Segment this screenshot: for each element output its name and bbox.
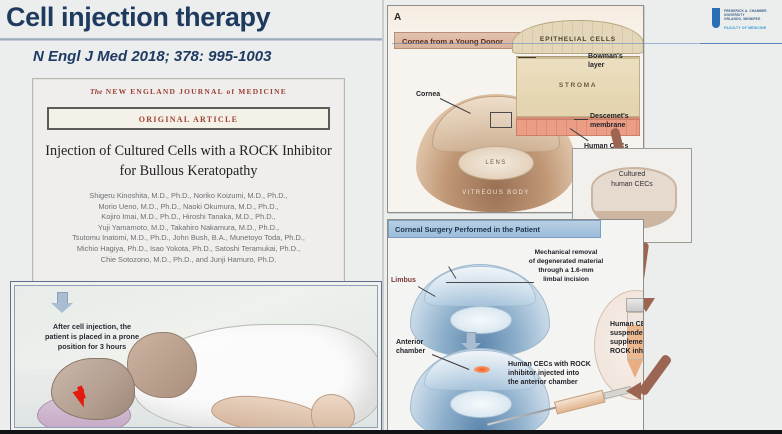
journal-citation: N Engl J Med 2018; 378: 995-1003 bbox=[33, 48, 271, 65]
descemet-leader-line bbox=[574, 119, 588, 120]
patient-lens-top bbox=[450, 306, 512, 334]
figure-panel-b: Corneal Surgery Performed in the Patient… bbox=[387, 219, 644, 431]
syringe-illustration bbox=[536, 383, 632, 419]
bowman-leader-line bbox=[518, 57, 536, 58]
epithelial-cells-label: EPITHELIAL CELLS bbox=[508, 36, 644, 43]
vitreous-body-label: VITREOUS BODY bbox=[416, 190, 576, 196]
injection-label: Human CECs with ROCK inhibitor injected … bbox=[508, 360, 600, 387]
cornea-label: Cornea bbox=[416, 90, 440, 99]
nejm-article-card: The NEW ENGLAND JOURNAL of MEDICINE ORIG… bbox=[32, 78, 345, 283]
cultured-cells-label: Cultured human CECs bbox=[573, 170, 691, 189]
logo-mark-dot-icon bbox=[712, 8, 720, 12]
title-block: Cell injection therapy bbox=[0, 0, 392, 40]
article-title: Injection of Cultured Cells with a ROCK … bbox=[45, 141, 332, 181]
template-rule-left bbox=[392, 43, 702, 44]
presentation-slide: Cell injection therapy N Engl J Med 2018… bbox=[0, 0, 782, 434]
original-article-box: ORIGINAL ARTICLE bbox=[47, 107, 330, 130]
descemets-membrane-label: Descemet's membrane bbox=[590, 112, 629, 130]
tube-label: Human CECs suspended and supplemented wi… bbox=[610, 320, 644, 356]
patient-head-illustration bbox=[51, 358, 135, 420]
masthead-the: The bbox=[90, 87, 103, 96]
logo-faculty-name: FACULTY OF MEDICINE bbox=[724, 26, 766, 30]
surgery-band: Corneal Surgery Performed in the Patient bbox=[388, 220, 601, 238]
syringe-barrel bbox=[554, 390, 606, 415]
template-rule bbox=[700, 43, 782, 44]
panel-a-letter: A bbox=[394, 12, 401, 23]
down-arrow-head-icon bbox=[51, 303, 73, 313]
article-authors: Shigeru Kinoshita, M.D., Ph.D., Noriko K… bbox=[41, 191, 336, 265]
instrument-shaft bbox=[446, 282, 534, 283]
tube-cap bbox=[626, 298, 644, 312]
patient-lens-bottom bbox=[450, 390, 512, 418]
masthead-title: NEW ENGLAND JOURNAL of MEDICINE bbox=[106, 87, 287, 96]
anterior-chamber-label: Anterior chamber bbox=[396, 338, 425, 356]
mechanical-removal-caption: Mechanical removal of degenerated materi… bbox=[510, 248, 622, 284]
prone-position-panel: After cell injection, the patient is pla… bbox=[10, 281, 382, 432]
university-logo: FREDERICK A. CHAMBER UNIVERSITY ORLANDO,… bbox=[712, 6, 778, 36]
flow-arrow-to-syringe-head bbox=[626, 382, 641, 400]
injected-cells-marker bbox=[474, 366, 490, 373]
bowmans-layer-label: Bowman's layer bbox=[588, 52, 623, 70]
logo-mark-icon bbox=[712, 8, 720, 28]
stroma-label: STROMA bbox=[508, 82, 644, 89]
tube-tip bbox=[627, 360, 643, 378]
figure-column: A Cornea from a Young Donor LENS VITREOU… bbox=[382, 0, 782, 434]
title-divider bbox=[0, 38, 392, 41]
prone-panel-inner: After cell injection, the patient is pla… bbox=[14, 285, 378, 428]
limbus-label: Limbus bbox=[391, 276, 416, 285]
nejm-masthead: The NEW ENGLAND JOURNAL of MEDICINE bbox=[33, 87, 344, 96]
original-article-label: ORIGINAL ARTICLE bbox=[49, 115, 328, 124]
column-divider bbox=[382, 0, 384, 434]
logo-institution-name: FREDERICK A. CHAMBER UNIVERSITY ORLANDO,… bbox=[724, 9, 767, 22]
patient-shoulder-illustration bbox=[127, 332, 197, 398]
page-title: Cell injection therapy bbox=[6, 2, 270, 33]
surgery-band-label: Corneal Surgery Performed in the Patient bbox=[395, 225, 540, 234]
donor-band-label: Cornea from a Young Donor bbox=[402, 37, 503, 46]
bottom-letterbox-bar bbox=[0, 430, 782, 434]
